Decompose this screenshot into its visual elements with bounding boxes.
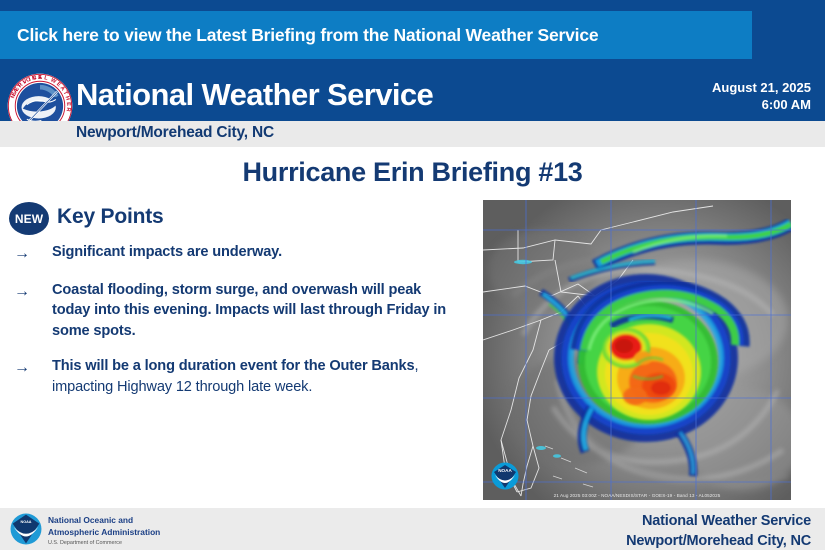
svg-text:NOAA: NOAA xyxy=(21,520,32,524)
latest-briefing-banner-button[interactable]: Click here to view the Latest Briefing f… xyxy=(0,11,752,59)
key-points-list: → Significant impacts are underway. → Co… xyxy=(14,242,462,411)
key-point-bold: This will be a long duration event for t… xyxy=(52,358,414,374)
list-item: → Significant impacts are underway. xyxy=(14,242,462,266)
key-point-bold: Coastal flooding, storm surge, and overw… xyxy=(52,282,446,339)
briefing-date: August 21, 2025 xyxy=(712,79,811,96)
office-name-label: Newport/Morehead City, NC xyxy=(76,124,274,142)
noaa-agency-name: National Oceanic and Atmospheric Adminis… xyxy=(48,515,160,538)
footer-office-line1: National Weather Service xyxy=(626,512,811,532)
satellite-image[interactable]: NOAA 21 Aug 2025 03:00Z - NOAA/NESDIS/ST… xyxy=(483,200,791,500)
key-point-text: Significant impacts are underway. xyxy=(52,242,282,263)
briefing-datetime: August 21, 2025 6:00 AM xyxy=(712,79,811,113)
satellite-image-graphic: NOAA xyxy=(483,200,791,500)
noaa-badge-icon: NOAA xyxy=(492,463,519,490)
arrow-bullet-icon: → xyxy=(14,242,52,266)
svg-text:R: R xyxy=(65,107,71,112)
briefing-time: 6:00 AM xyxy=(712,96,811,113)
arrow-bullet-icon: → xyxy=(14,356,52,380)
arrow-bullet-icon: → xyxy=(14,280,52,304)
key-point-text: Coastal flooding, storm surge, and overw… xyxy=(52,280,462,342)
key-point-text: This will be a long duration event for t… xyxy=(52,356,462,397)
footer-office-line2: Newport/Morehead City, NC xyxy=(626,532,811,551)
svg-text:E: E xyxy=(38,75,42,81)
noaa-department-label: U.S. Department of Commerce xyxy=(48,540,122,546)
list-item: → This will be a long duration event for… xyxy=(14,356,462,397)
svg-text:NOAA: NOAA xyxy=(498,468,512,473)
key-point-bold: Significant impacts are underway. xyxy=(52,244,282,260)
latest-briefing-banner-label: Click here to view the Latest Briefing f… xyxy=(0,25,598,46)
list-item: → Coastal flooding, storm surge, and ove… xyxy=(14,280,462,342)
noaa-logo-icon: NOAA xyxy=(10,513,42,545)
nws-agency-title: National Weather Service xyxy=(76,79,433,110)
noaa-agency-line1: National Oceanic and xyxy=(48,515,160,527)
noaa-agency-line2: Atmospheric Administration xyxy=(48,527,160,539)
new-badge: NEW xyxy=(9,202,49,235)
page-title: Hurricane Erin Briefing #13 xyxy=(0,157,825,188)
svg-text:E: E xyxy=(65,102,71,106)
key-points-heading: Key Points xyxy=(57,205,164,229)
footer-office-info: National Weather Service Newport/Morehea… xyxy=(626,512,811,551)
satellite-caption: 21 Aug 2025 03:00Z - NOAA/NESDIS/STAR - … xyxy=(483,493,791,498)
